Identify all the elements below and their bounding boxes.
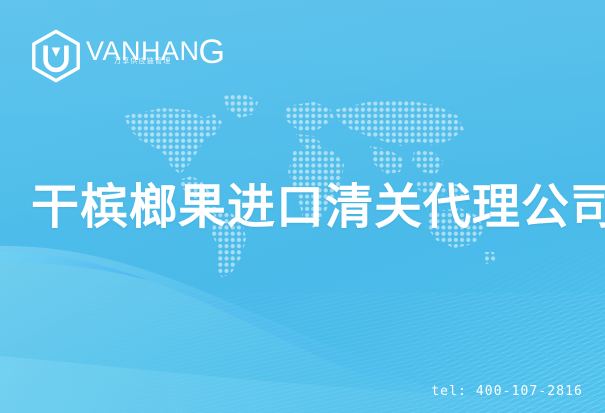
hexagon-u-mark-icon — [30, 29, 82, 83]
page-title: 干槟榔果进口清关代理公司 — [31, 178, 605, 236]
brand-subtitle: 万享供应链管理 — [114, 56, 171, 66]
promo-banner: VANHANG 万享供应链管理 干槟榔果进口清关代理公司 tel: 400-10… — [0, 0, 605, 413]
brand-logo[interactable]: VANHANG 万享供应链管理 — [30, 28, 225, 84]
wordmark-last-letter: G — [199, 33, 226, 71]
contact-phone: tel: 400-107-2816 — [431, 384, 583, 399]
brand-wordmark: VANHANG 万享供应链管理 — [86, 34, 225, 78]
